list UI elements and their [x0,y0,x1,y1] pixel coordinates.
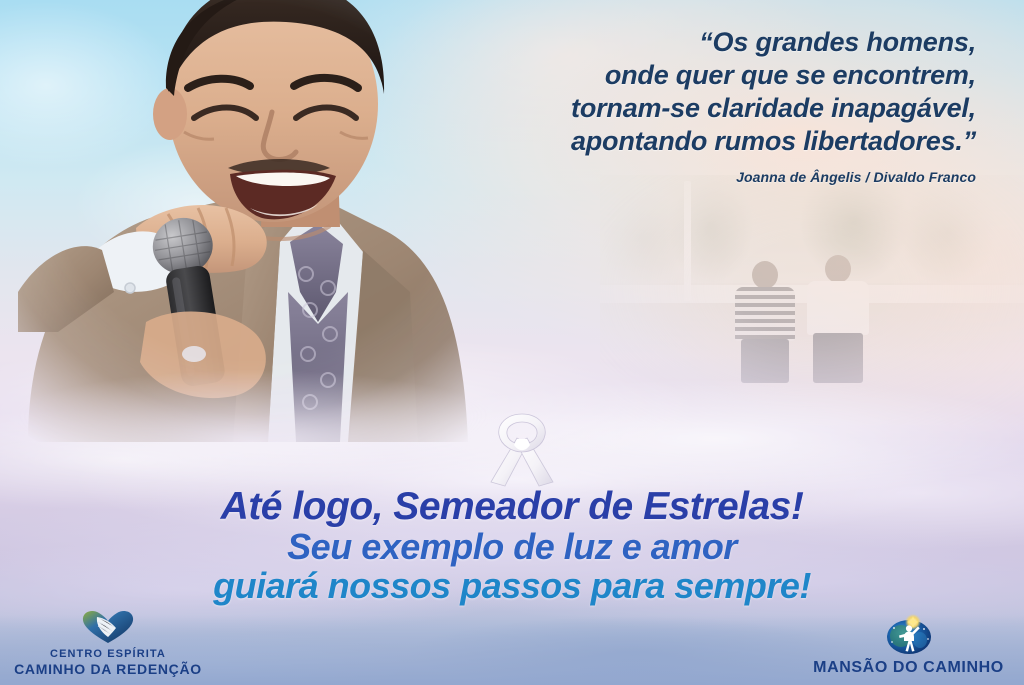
quote-line-4: apontando rumos libertadores.” [416,125,976,158]
logo-left-line-2: CAMINHO DA REDENÇÃO [8,661,208,677]
quote-attribution: Joanna de Ângelis / Divaldo Franco [416,169,976,185]
quote-block: “Os grandes homens, onde quer que se enc… [416,26,976,185]
quote-line-1: “Os grandes homens, [416,26,976,59]
white-mourning-ribbon-icon [483,408,561,488]
hands-heart-icon [80,609,136,645]
quote-line-2: onde quer que se encontrem, [416,59,976,92]
headline-line-3: guiará nossos passos para sempre! [0,566,1024,605]
quote-line-3: tornam-se claridade inapagável, [416,92,976,125]
headline-line-2: Seu exemplo de luz e amor [0,527,1024,566]
logo-centro-espirita[interactable]: CENTRO ESPÍRITA CAMINHO DA REDENÇÃO [8,609,208,677]
globe-figure-star-icon [884,614,934,656]
headline-block: Até logo, Semeador de Estrelas! Seu exem… [0,487,1024,605]
logo-mansao-do-caminho[interactable]: MANSÃO DO CAMINHO [801,614,1016,677]
headline-line-1: Até logo, Semeador de Estrelas! [0,487,1024,527]
logo-left-line-1: CENTRO ESPÍRITA [8,648,208,661]
memorial-poster: “Os grandes homens, onde quer que se enc… [0,0,1024,685]
logo-right-line-1: MANSÃO DO CAMINHO [801,659,1016,677]
